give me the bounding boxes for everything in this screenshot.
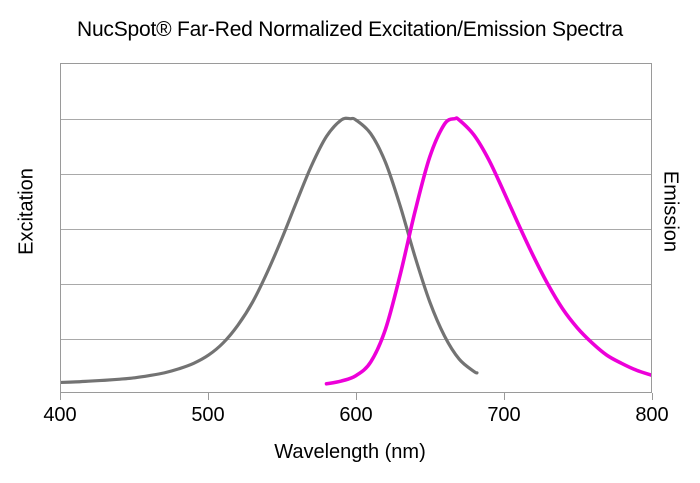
xtick-label-600: 600 bbox=[321, 404, 391, 427]
xtick-label-500: 500 bbox=[173, 404, 243, 427]
excitation-curve bbox=[61, 118, 477, 382]
xtick-label-400: 400 bbox=[25, 404, 95, 427]
xtick-mark-500 bbox=[208, 393, 209, 400]
emission-curve bbox=[327, 118, 652, 384]
xtick-label-800: 800 bbox=[617, 404, 687, 427]
xtick-mark-700 bbox=[504, 393, 505, 400]
xtick-mark-400 bbox=[60, 393, 61, 400]
plot-area bbox=[60, 63, 652, 393]
xtick-mark-800 bbox=[652, 393, 653, 400]
xtick-mark-600 bbox=[356, 393, 357, 400]
chart-title: NucSpot® Far-Red Normalized Excitation/E… bbox=[0, 18, 700, 42]
spectra-curves bbox=[61, 64, 651, 392]
xtick-label-700: 700 bbox=[469, 404, 539, 427]
x-axis-title: Wavelength (nm) bbox=[0, 441, 700, 464]
spectra-chart-figure: NucSpot® Far-Red Normalized Excitation/E… bbox=[0, 0, 700, 483]
y-axis-right-title: Emission bbox=[659, 122, 682, 302]
y-axis-left-title: Excitation bbox=[16, 122, 39, 302]
